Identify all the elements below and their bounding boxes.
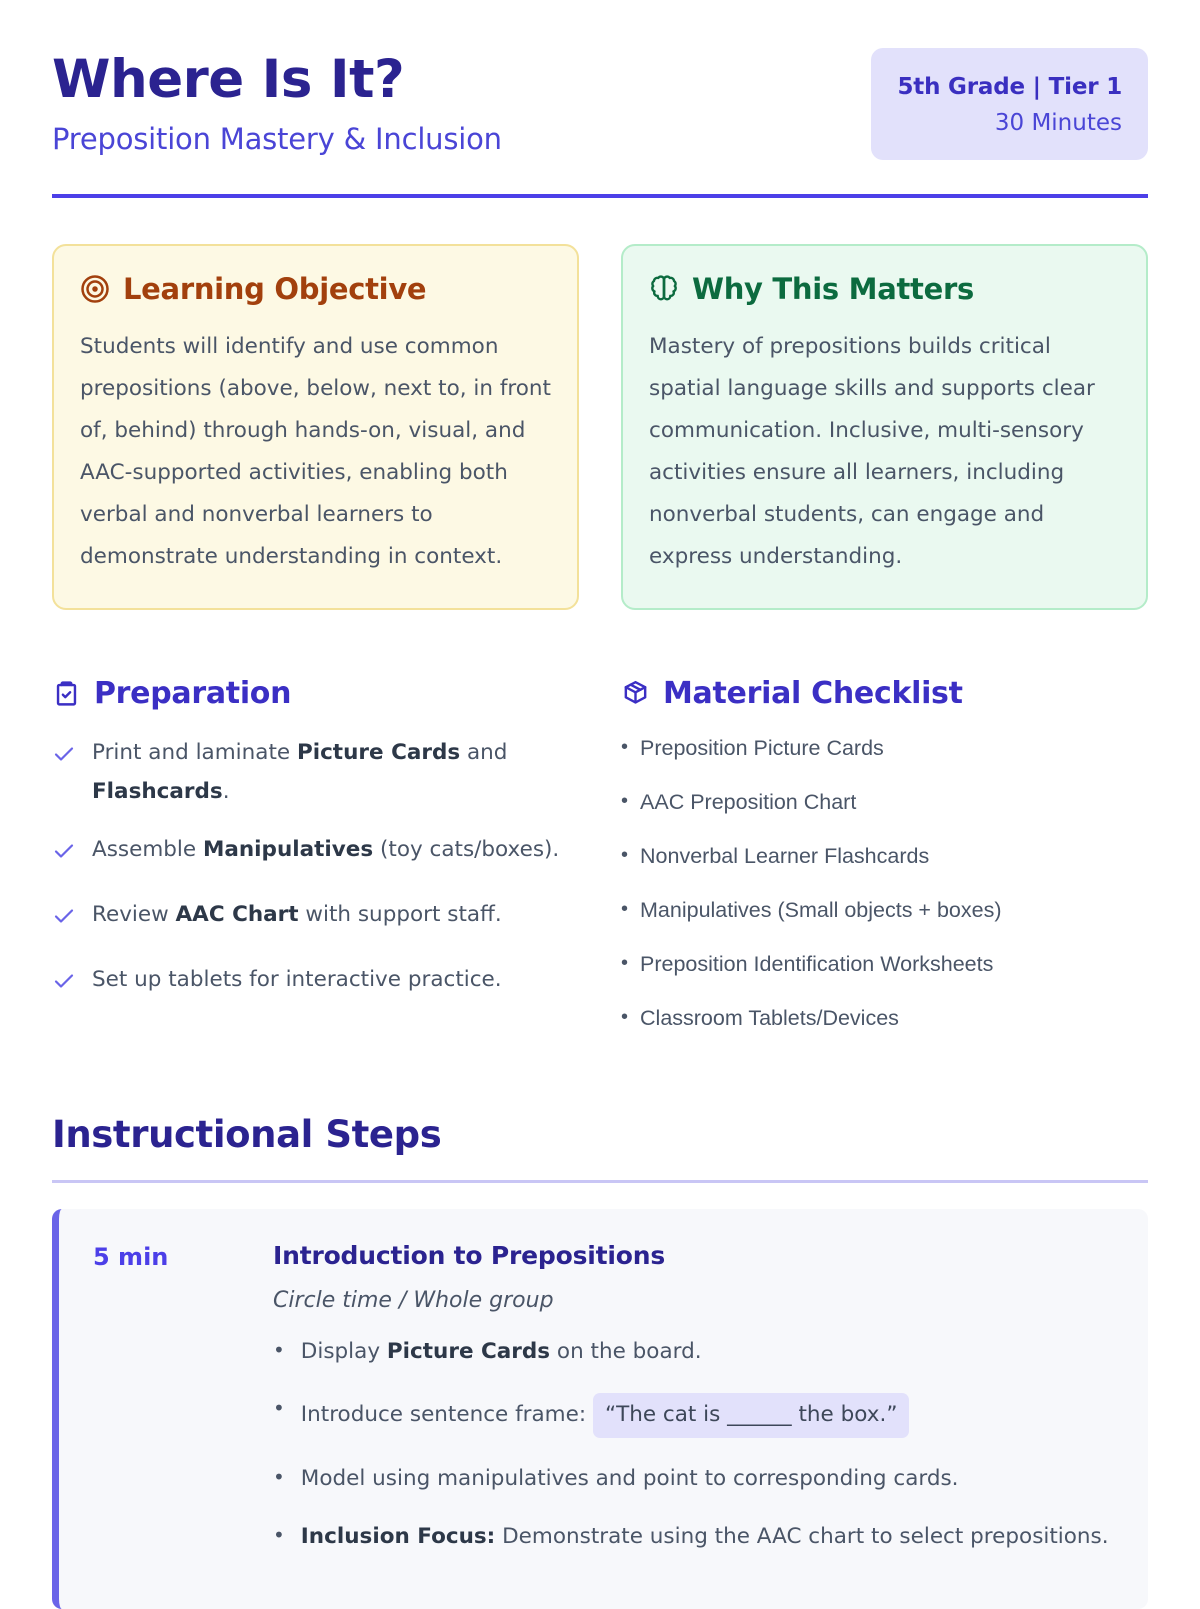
learning-objective-title: Learning Objective [123, 272, 426, 306]
material-item-text: Preposition Identification Worksheets [640, 949, 993, 979]
why-this-matters-card: Why This Matters Mastery of prepositions… [621, 244, 1148, 610]
step-bullet-list: •Display Picture Cards on the board.•Int… [273, 1335, 1118, 1555]
step-bullet-text: Model using manipulatives and point to c… [301, 1462, 959, 1496]
bullet-icon: • [273, 1462, 285, 1492]
preparation-item: Assemble Manipulatives (toy cats/boxes). [52, 830, 579, 877]
prep-materials-columns: Preparation Print and laminate Picture C… [52, 676, 1148, 1058]
material-item-text: Nonverbal Learner Flashcards [640, 841, 929, 871]
step-bullet-text: Display Picture Cards on the board. [301, 1335, 702, 1369]
instructional-steps-divider [52, 1180, 1148, 1183]
materials-list: •Preposition Picture Cards•AAC Prepositi… [621, 733, 1148, 1034]
material-item-text: Manipulatives (Small objects + boxes) [640, 895, 1001, 925]
learning-objective-card: Learning Objective Students will identif… [52, 244, 579, 610]
bullet-icon: • [273, 1393, 285, 1423]
check-icon [52, 967, 76, 1007]
brain-icon [649, 274, 679, 304]
why-this-matters-title: Why This Matters [692, 272, 974, 306]
sentence-frame-chip: “The cat is ______ the box.” [593, 1393, 910, 1437]
step-title: Introduction to Prepositions [273, 1241, 1118, 1270]
why-this-matters-body: Mastery of prepositions builds critical … [649, 326, 1120, 578]
step-duration: 5 min [93, 1241, 243, 1579]
bullet-icon: • [621, 787, 628, 816]
preparation-item: Review AAC Chart with support staff. [52, 895, 579, 942]
preparation-list: Print and laminate Picture Cards and Fla… [52, 733, 579, 1007]
check-icon [52, 837, 76, 877]
material-item: •Classroom Tablets/Devices [621, 1003, 1148, 1033]
info-cards: Learning Objective Students will identif… [52, 244, 1148, 610]
package-icon [621, 679, 650, 708]
bullet-icon: • [621, 841, 628, 870]
materials-title: Material Checklist [663, 676, 963, 711]
learning-objective-body: Students will identify and use common pr… [80, 326, 551, 578]
step-bullet: •Introduce sentence frame: “The cat is _… [273, 1393, 1118, 1437]
bullet-icon: • [273, 1335, 285, 1365]
step-bullet-text: Introduce sentence frame: “The cat is __… [301, 1393, 910, 1437]
preparation-item-text: Set up tablets for interactive practice. [92, 960, 502, 1000]
bullet-icon: • [273, 1520, 285, 1550]
materials-header: Material Checklist [621, 676, 1148, 711]
preparation-item-text: Review AAC Chart with support staff. [92, 895, 502, 935]
material-item-text: AAC Preposition Chart [640, 787, 856, 817]
material-item: •Nonverbal Learner Flashcards [621, 841, 1148, 871]
grade-duration-badge: 5th Grade | Tier 1 30 Minutes [871, 48, 1148, 160]
lesson-plan-page: Where Is It? Preposition Mastery & Inclu… [0, 0, 1200, 1600]
preparation-item-text: Print and laminate Picture Cards and Fla… [92, 733, 579, 813]
preparation-item: Print and laminate Picture Cards and Fla… [52, 733, 579, 813]
step-bullet: •Inclusion Focus: Demonstrate using the … [273, 1520, 1118, 1554]
material-item: •Preposition Identification Worksheets [621, 949, 1148, 979]
bullet-icon: • [621, 733, 628, 762]
step-bullet-text: Inclusion Focus: Demonstrate using the A… [301, 1520, 1109, 1554]
step-bullet: •Model using manipulatives and point to … [273, 1462, 1118, 1496]
why-this-matters-header: Why This Matters [649, 272, 1120, 306]
page-header: Where Is It? Preposition Mastery & Inclu… [52, 48, 1148, 160]
page-subtitle: Preposition Mastery & Inclusion [52, 122, 502, 156]
preparation-title: Preparation [94, 676, 291, 711]
step-bullet: •Display Picture Cards on the board. [273, 1335, 1118, 1369]
page-title: Where Is It? [52, 52, 502, 108]
check-icon [52, 902, 76, 942]
bullet-icon: • [621, 949, 628, 978]
learning-objective-header: Learning Objective [80, 272, 551, 306]
grade-tier-label: 5th Grade | Tier 1 [897, 74, 1122, 100]
preparation-column: Preparation Print and laminate Picture C… [52, 676, 579, 1058]
target-icon [80, 274, 110, 304]
material-item: •Manipulatives (Small objects + boxes) [621, 895, 1148, 925]
bullet-icon: • [621, 1003, 628, 1032]
preparation-header: Preparation [52, 676, 579, 711]
header-divider [52, 194, 1148, 198]
preparation-item-text: Assemble Manipulatives (toy cats/boxes). [92, 830, 559, 870]
clipboard-check-icon [52, 679, 81, 708]
material-item: •Preposition Picture Cards [621, 733, 1148, 763]
instructional-step: 5 minIntroduction to PrepositionsCircle … [52, 1209, 1148, 1609]
materials-column: Material Checklist •Preposition Picture … [621, 676, 1148, 1058]
material-item-text: Preposition Picture Cards [640, 733, 884, 763]
step-content: Introduction to PrepositionsCircle time … [273, 1241, 1118, 1579]
preparation-item: Set up tablets for interactive practice. [52, 960, 579, 1007]
instructional-steps-title: Instructional Steps [52, 1113, 1148, 1156]
material-item-text: Classroom Tablets/Devices [640, 1003, 899, 1033]
step-subtitle: Circle time / Whole group [273, 1288, 1118, 1313]
material-item: •AAC Preposition Chart [621, 787, 1148, 817]
duration-label: 30 Minutes [897, 110, 1122, 136]
instructional-steps-list: 5 minIntroduction to PrepositionsCircle … [52, 1209, 1148, 1609]
check-icon [52, 740, 76, 780]
bullet-icon: • [621, 895, 628, 924]
title-block: Where Is It? Preposition Mastery & Inclu… [52, 48, 502, 156]
